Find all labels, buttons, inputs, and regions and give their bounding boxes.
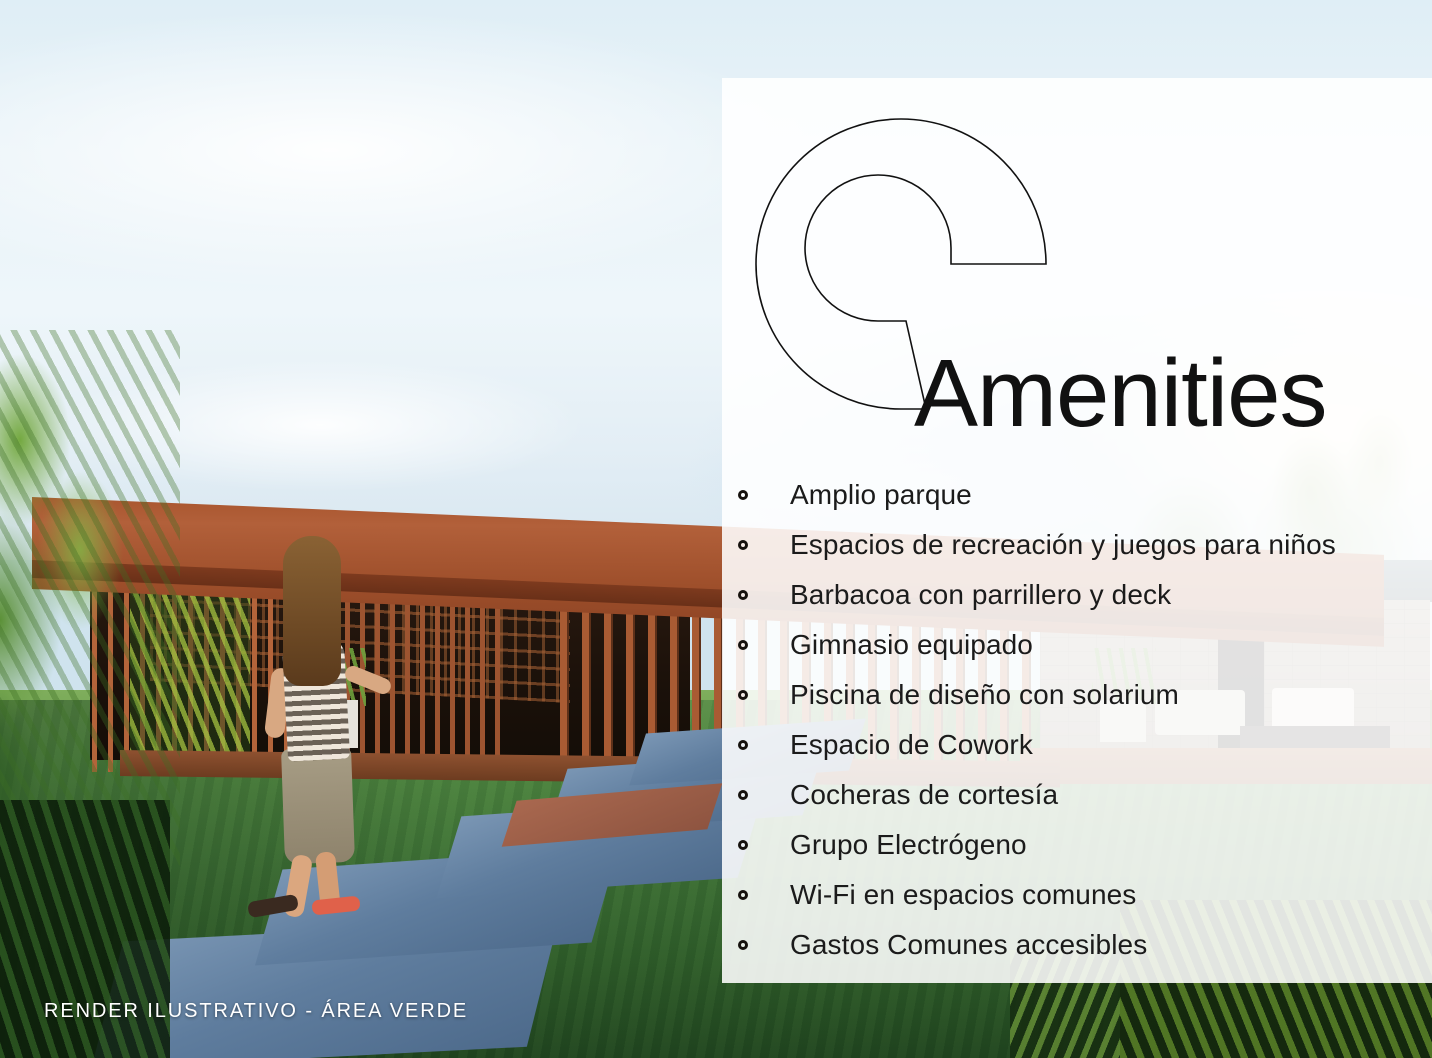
list-item-label: Espacio de Cowork	[790, 729, 1033, 761]
list-item[interactable]: Piscina de diseño con solarium	[730, 670, 1430, 720]
list-item-label: Gastos Comunes accesibles	[790, 929, 1147, 961]
list-item-label: Amplio parque	[790, 479, 972, 511]
ring-bullet-icon	[738, 590, 748, 600]
slide-root: RENDER ILUSTRATIVO - ÁREA VERDE Amenitie…	[0, 0, 1432, 1058]
list-item-label: Espacios de recreación y juegos para niñ…	[790, 529, 1336, 561]
list-item[interactable]: Grupo Electrógeno	[730, 820, 1430, 870]
list-item[interactable]: Gastos Comunes accesibles	[730, 920, 1430, 970]
list-item-label: Cocheras de cortesía	[790, 779, 1058, 811]
ring-bullet-icon	[738, 690, 748, 700]
list-item[interactable]: Amplio parque	[730, 470, 1430, 520]
ring-bullet-icon	[738, 790, 748, 800]
person-hair	[283, 536, 341, 686]
ring-bullet-icon	[738, 840, 748, 850]
list-item[interactable]: Espacio de Cowork	[730, 720, 1430, 770]
list-item-label: Barbacoa con parrillero y deck	[790, 579, 1171, 611]
tree-left-foliage	[0, 330, 180, 870]
list-item[interactable]: Barbacoa con parrillero y deck	[730, 570, 1430, 620]
list-item-label: Wi-Fi en espacios comunes	[790, 879, 1136, 911]
ring-bullet-icon	[738, 540, 748, 550]
ring-bullet-icon	[738, 740, 748, 750]
page-title: Amenities	[914, 346, 1327, 442]
list-item[interactable]: Espacios de recreación y juegos para niñ…	[730, 520, 1430, 570]
list-item[interactable]: Wi-Fi en espacios comunes	[730, 870, 1430, 920]
ring-bullet-icon	[738, 940, 748, 950]
ring-bullet-icon	[738, 890, 748, 900]
list-item-label: Grupo Electrógeno	[790, 829, 1027, 861]
person-trousers	[281, 747, 355, 864]
list-item-label: Piscina de diseño con solarium	[790, 679, 1179, 711]
list-item[interactable]: Cocheras de cortesía	[730, 770, 1430, 820]
list-item[interactable]: Gimnasio equipado	[730, 620, 1430, 670]
ring-bullet-icon	[738, 640, 748, 650]
render-caption: RENDER ILUSTRATIVO - ÁREA VERDE	[44, 1000, 468, 1023]
amenities-list: Amplio parque Espacios de recreación y j…	[730, 470, 1430, 970]
amenities-panel: Amenities Amplio parque Espacios de recr…	[722, 78, 1432, 983]
list-item-label: Gimnasio equipado	[790, 629, 1033, 661]
ring-bullet-icon	[738, 490, 748, 500]
